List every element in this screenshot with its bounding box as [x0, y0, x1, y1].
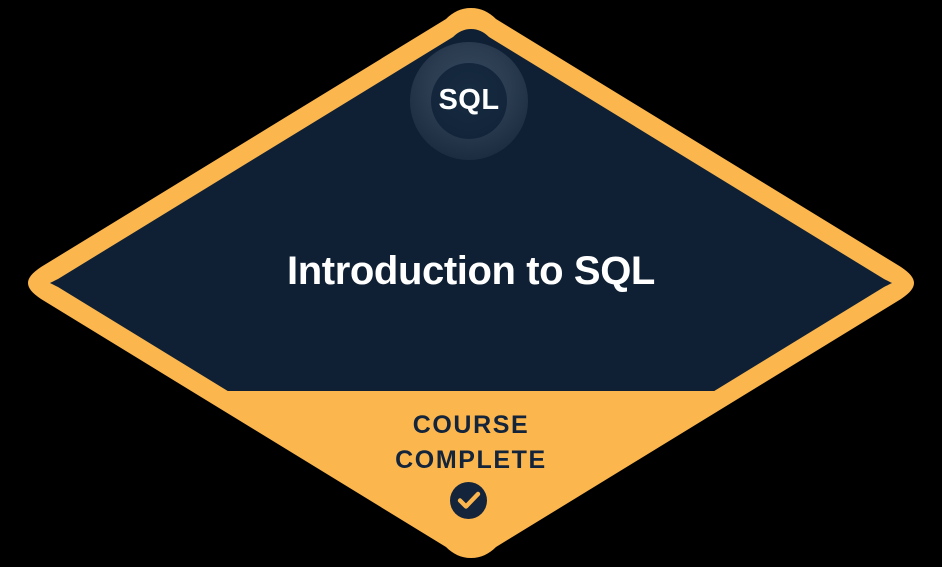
course-badge-card: SQL Introduction to SQL COURSE COMPLETE: [0, 0, 942, 567]
status-line-complete: COMPLETE: [0, 443, 942, 478]
skill-tag-label: SQL: [438, 86, 499, 115]
completion-status: COURSE COMPLETE: [0, 408, 942, 478]
status-line-course: COURSE: [0, 408, 942, 443]
course-title: Introduction to SQL: [0, 243, 942, 299]
check-mark-icon: [450, 482, 487, 519]
skill-tag-badge: SQL: [410, 42, 528, 160]
